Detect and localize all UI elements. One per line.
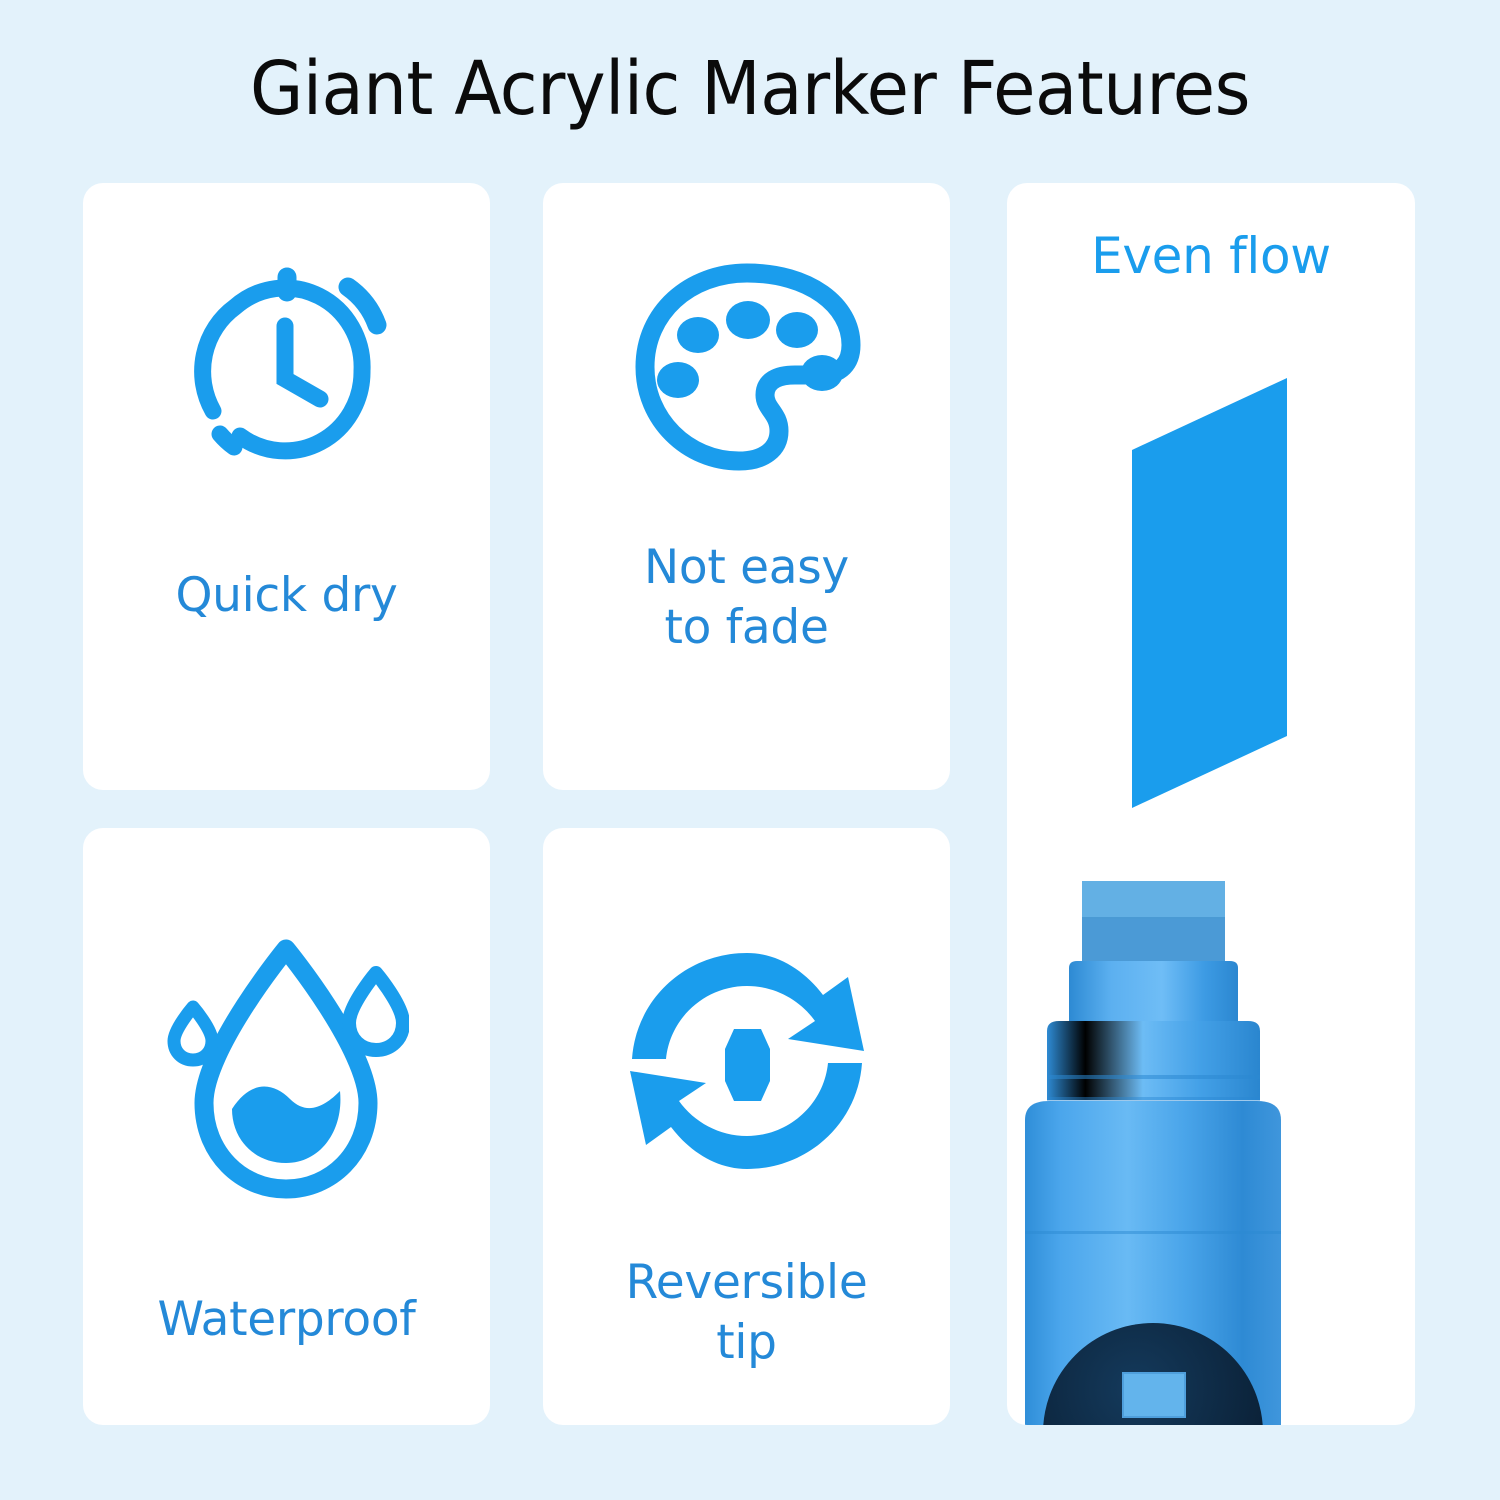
acrylic-marker-illustration — [1007, 873, 1415, 1425]
product-panel: Even flow — [1007, 183, 1415, 1425]
label-line: to fade — [664, 600, 828, 655]
paint-palette-icon — [543, 245, 950, 495]
feature-card-waterproof: Waterproof — [83, 828, 490, 1425]
marker-collar — [1047, 1021, 1260, 1101]
feature-label-reversible-tip: Reversible tip — [543, 1253, 950, 1373]
feature-card-reversible-tip: Reversible tip — [543, 828, 950, 1425]
label-line: tip — [716, 1315, 776, 1370]
feature-card-quick-dry: Quick dry — [83, 183, 490, 790]
refresh-cycle-icon — [543, 918, 950, 1203]
marker-stroke-swatch — [1132, 378, 1287, 808]
feature-label-waterproof: Waterproof — [83, 1290, 490, 1350]
infographic-page: Giant Acrylic Marker Features — [0, 0, 1500, 1500]
stopwatch-icon — [83, 241, 490, 501]
feature-label-not-easy-to-fade: Not easy to fade — [543, 538, 950, 658]
label-line: Reversible — [626, 1255, 868, 1310]
label-line: Not easy — [644, 540, 849, 595]
panel-title-even-flow: Even flow — [1007, 227, 1415, 285]
label-line: Waterproof — [157, 1292, 415, 1347]
feature-card-not-easy-to-fade: Not easy to fade — [543, 183, 950, 790]
feature-label-quick-dry: Quick dry — [83, 566, 490, 626]
water-drop-icon — [83, 923, 490, 1213]
page-title: Giant Acrylic Marker Features — [53, 52, 1448, 126]
label-line: Quick dry — [175, 568, 397, 623]
marker-nib — [1082, 881, 1225, 968]
